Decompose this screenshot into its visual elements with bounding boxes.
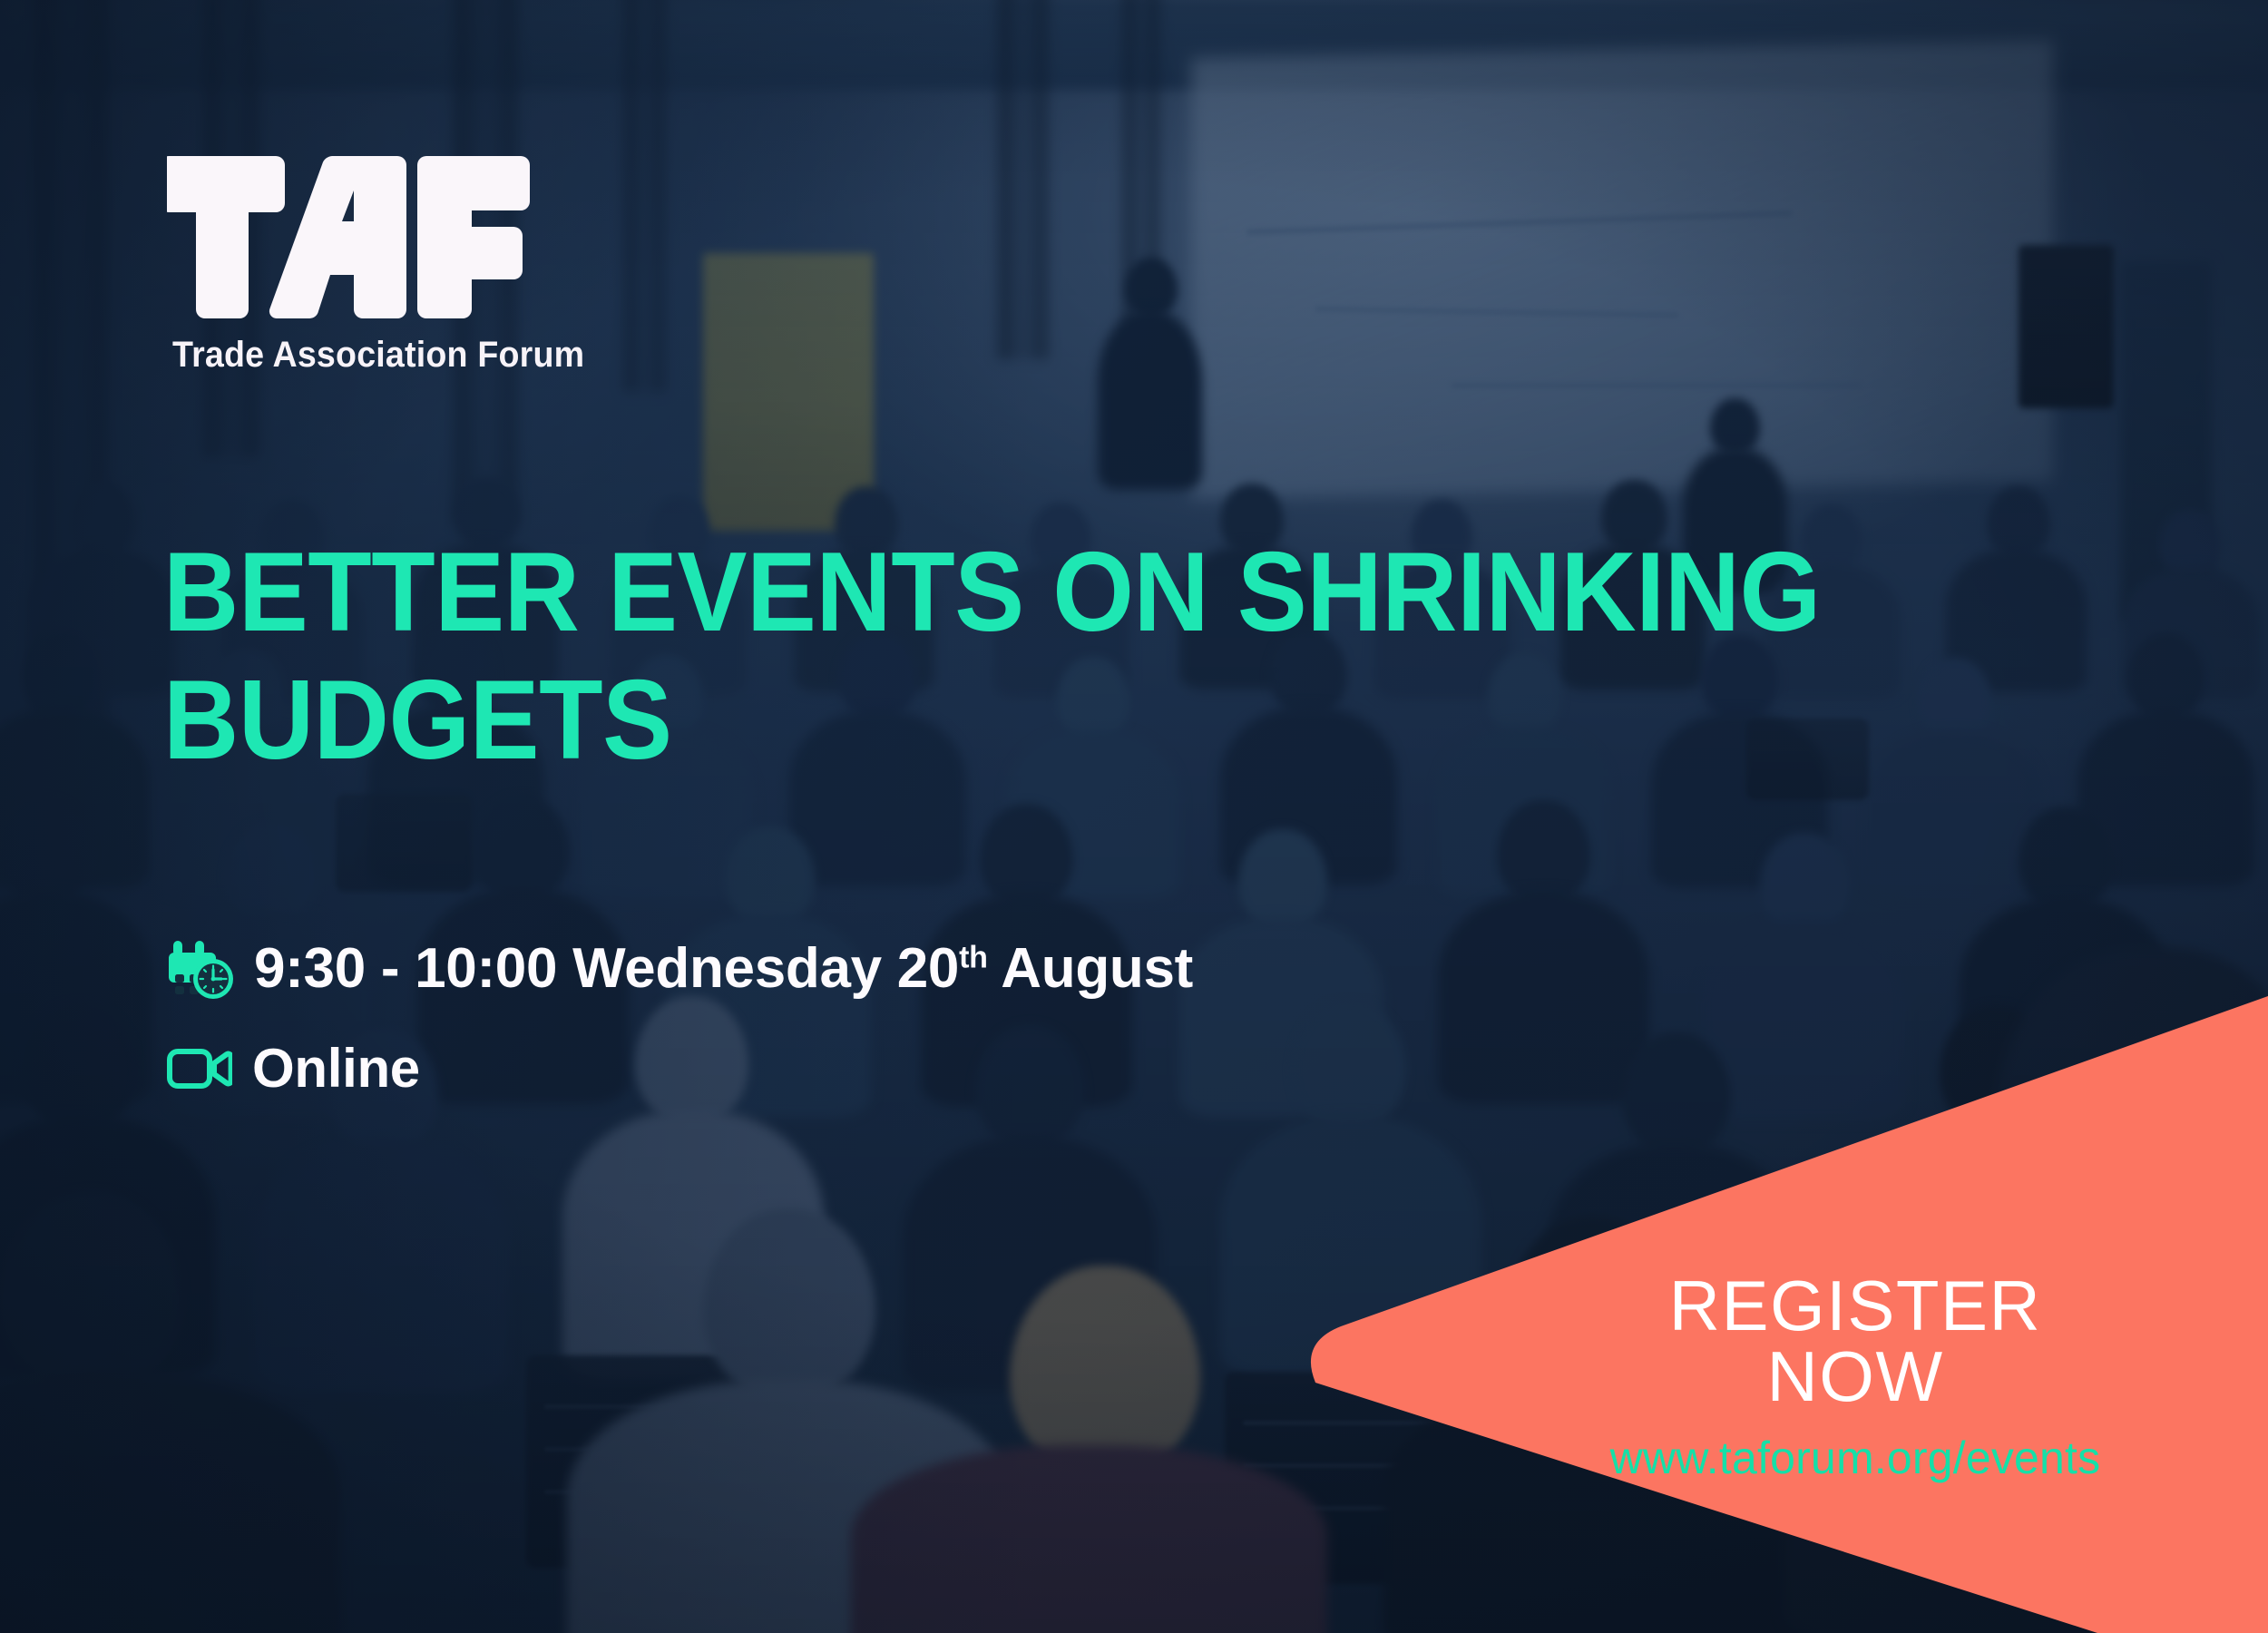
event-day-suffix: th bbox=[959, 940, 988, 974]
brand-logo: Trade Association Forum bbox=[167, 152, 611, 376]
register-url-link[interactable]: www.taforum.org/events bbox=[1574, 1432, 2136, 1484]
event-datetime-row: 9:30 - 10:00 Wednesday 20th August bbox=[167, 936, 1193, 1001]
headline-line-2: BUDGETS bbox=[163, 658, 672, 783]
event-location-row: Online bbox=[167, 1037, 1193, 1100]
event-location-label: Online bbox=[252, 1037, 420, 1100]
event-datetime-label: 9:30 - 10:00 Wednesday 20th August bbox=[254, 936, 1193, 1001]
page-title: BETTER EVENTS ON SHRINKING BUDGETS bbox=[163, 529, 1952, 786]
calendar-clock-icon bbox=[167, 937, 234, 1001]
video-camera-icon bbox=[167, 1045, 232, 1092]
event-datetime-main: 9:30 - 10:00 Wednesday 20 bbox=[254, 937, 959, 1000]
register-cta[interactable]: REGISTER NOW www.taforum.org/events bbox=[1574, 1270, 2136, 1484]
event-month: August bbox=[988, 937, 1193, 1000]
register-now-label[interactable]: REGISTER NOW bbox=[1574, 1270, 2136, 1412]
event-details: 9:30 - 10:00 Wednesday 20th August Onlin… bbox=[167, 936, 1193, 1100]
headline-line-1: BETTER EVENTS ON SHRINKING bbox=[163, 530, 1821, 655]
taf-wordmark-icon bbox=[167, 152, 530, 320]
event-promo-poster: Trade Association Forum BETTER EVENTS ON… bbox=[0, 0, 2268, 1633]
brand-tagline: Trade Association Forum bbox=[172, 335, 584, 376]
